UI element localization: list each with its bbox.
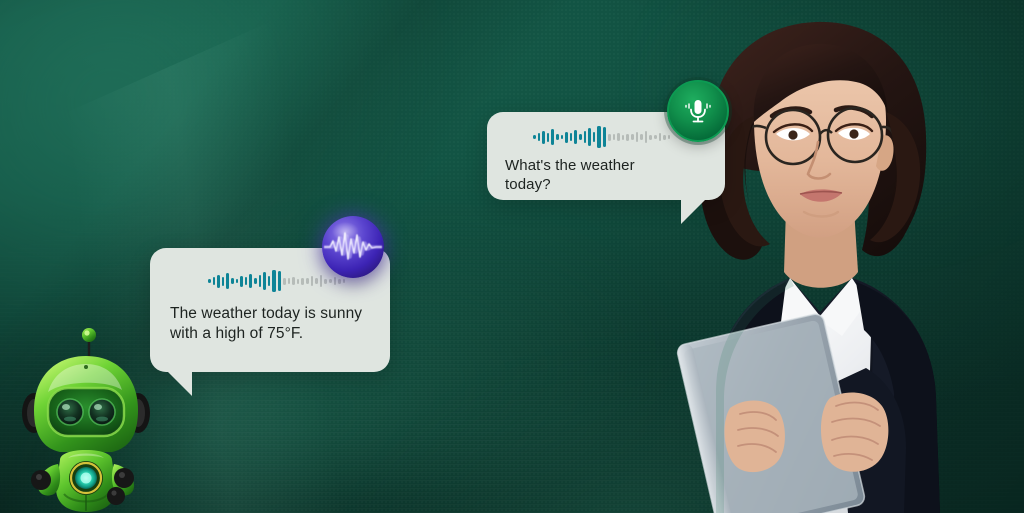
waveform-bar: [561, 135, 564, 139]
waveform-bar: [311, 276, 314, 286]
microphone-icon: [683, 95, 713, 127]
waveform-bar: [231, 278, 234, 284]
waveform-bar: [645, 131, 648, 143]
waveform-bar: [254, 278, 257, 284]
waveform-bar: [654, 135, 657, 139]
waveform-bar: [249, 274, 252, 288]
waveform-bar: [272, 270, 275, 292]
waveform-bar: [320, 275, 323, 287]
waveform-bar: [329, 279, 332, 283]
waveform-bar: [222, 277, 225, 286]
waveform-bar: [649, 135, 652, 140]
waveform-bar: [631, 134, 634, 140]
woman-with-tablet: [604, 0, 1024, 513]
waveform-bar: [268, 276, 271, 286]
waveform-bar: [626, 134, 629, 141]
waveform-bar: [208, 279, 211, 283]
waveform-bar: [288, 278, 291, 284]
waveform-bar: [315, 278, 318, 284]
waveform-bar: [551, 129, 554, 145]
waveform-bar: [533, 135, 536, 139]
waveform-bar: [588, 128, 591, 146]
waveform-bar: [542, 131, 545, 144]
waveform-bar: [236, 279, 239, 283]
waveform-bar: [597, 126, 600, 148]
waveform-bar: [608, 134, 611, 141]
waveform-bar: [292, 277, 295, 285]
waveform-bar: [556, 134, 559, 140]
ai-robot-mascot: [12, 318, 160, 513]
bubble-text-user: What's the weather today?: [505, 156, 707, 194]
waveform-bar: [603, 127, 606, 147]
waveform-bar: [213, 277, 216, 285]
waveform-bar: [283, 278, 286, 285]
waveform-bar: [245, 277, 248, 285]
waveform-bar: [306, 278, 309, 284]
waveform-bar: [334, 277, 337, 285]
waveform-bar: [338, 279, 341, 284]
waveform-bar: [570, 133, 573, 141]
waveform-bar: [278, 271, 281, 291]
waveform-bar: [324, 279, 327, 284]
waveform-bar: [240, 276, 243, 287]
waveform-bar: [343, 279, 346, 283]
waveform-bar: [617, 133, 620, 141]
waveform-bar: [640, 134, 643, 140]
waveform-bar: [574, 130, 577, 144]
waveform-bar: [565, 132, 568, 143]
waveform-bar: [636, 132, 639, 142]
bubble-tail: [166, 370, 192, 396]
waveform-bar: [547, 133, 550, 142]
waveform-bar: [668, 135, 671, 139]
waveform-bar: [663, 135, 666, 140]
bubble-tail: [681, 198, 707, 224]
waveform-bar: [226, 273, 229, 289]
waveform-bar: [613, 134, 616, 140]
waveform-bar: [593, 132, 596, 142]
waveform-bar: [217, 275, 220, 288]
hero-banner: What's the weather today? The weather to…: [0, 0, 1024, 513]
waveform-bar: [297, 279, 300, 284]
waveform-bar: [622, 135, 625, 140]
ai-voice-orb[interactable]: [322, 216, 384, 278]
microphone-badge[interactable]: [667, 80, 729, 142]
waveform-bar: [538, 133, 541, 141]
waveform-bar: [659, 133, 662, 141]
waveform-bar: [263, 272, 266, 290]
orb-highlight: [332, 222, 359, 241]
waveform-bar: [584, 131, 587, 143]
waveform-bar: [301, 278, 304, 285]
waveform-bar: [259, 275, 262, 287]
bubble-text-assistant: The weather today is sunny with a high o…: [170, 304, 370, 344]
waveform-bar: [579, 134, 582, 140]
